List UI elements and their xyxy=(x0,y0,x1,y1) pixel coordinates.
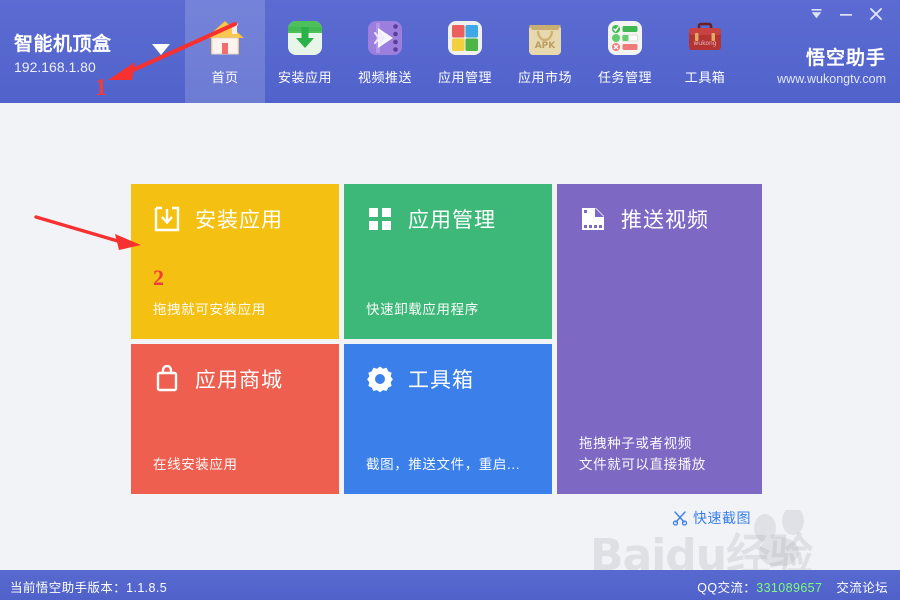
home-icon xyxy=(203,16,247,60)
nav-item-toolbox[interactable]: wukong 工具箱 xyxy=(665,0,745,103)
close-icon xyxy=(869,7,883,21)
nav-label: 任务管理 xyxy=(598,67,652,86)
brand-url: www.wukongtv.com xyxy=(777,71,886,88)
brand-block: 悟空助手 www.wukongtv.com xyxy=(777,48,886,88)
video-push-icon xyxy=(363,16,407,60)
tray-arrow-down-icon xyxy=(810,8,823,21)
tile-push-video[interactable]: 推送视频 拖拽种子或者视频 文件就可以直接播放 xyxy=(557,184,762,494)
nav-label: 首页 xyxy=(211,67,238,86)
main-navbar: 首页 安装应用 xyxy=(185,0,745,103)
tile-subtitle: 拖拽就可安装应用 xyxy=(153,299,266,320)
tile-title: 应用商城 xyxy=(195,364,283,394)
nav-item-app-market[interactable]: APK 应用市场 xyxy=(505,0,585,103)
download-app-icon xyxy=(283,16,327,60)
nav-item-task-manage[interactable]: 任务管理 xyxy=(585,0,665,103)
quick-screenshot-link[interactable]: 快速截图 xyxy=(672,508,751,528)
chevron-down-icon[interactable] xyxy=(152,44,170,55)
tile-app-manage[interactable]: 应用管理 快速卸载应用程序 xyxy=(344,184,552,339)
minus-icon xyxy=(839,8,853,21)
qq-label: QQ交流： xyxy=(697,581,756,595)
tile-app-store[interactable]: 应用商城 在线安装应用 xyxy=(131,344,339,494)
film-page-icon xyxy=(579,205,607,233)
task-manage-icon xyxy=(603,16,647,60)
device-selector[interactable]: 智能机顶盒 192.168.1.80 xyxy=(14,34,184,76)
status-right: QQ交流：331089657交流论坛 xyxy=(697,577,888,596)
quick-screenshot-label: 快速截图 xyxy=(693,508,751,528)
qq-number: 331089657 xyxy=(756,581,822,595)
nav-item-install-app[interactable]: 安装应用 xyxy=(265,0,345,103)
tile-title: 安装应用 xyxy=(195,204,283,234)
tile-install-app[interactable]: 安装应用 2 拖拽就可安装应用 xyxy=(131,184,339,339)
app-manage-icon xyxy=(443,16,487,60)
nav-label: 应用市场 xyxy=(518,67,572,86)
nav-label: 安装应用 xyxy=(278,67,332,86)
minimize-button[interactable] xyxy=(832,2,860,26)
tile-subtitle: 在线安装应用 xyxy=(153,454,238,475)
install-box-icon xyxy=(153,205,181,233)
svg-text:wukong: wukong xyxy=(693,40,716,47)
tile-header: 工具箱 xyxy=(366,364,474,394)
forum-link[interactable]: 交流论坛 xyxy=(836,581,888,595)
nav-label: 工具箱 xyxy=(685,67,726,86)
scissors-icon xyxy=(672,510,688,526)
apk-market-icon: APK xyxy=(523,16,567,60)
device-ip: 192.168.1.80 xyxy=(14,58,184,76)
minimize-to-tray-button[interactable] xyxy=(802,2,830,26)
window-controls xyxy=(802,2,890,26)
app-window: 智能机顶盒 192.168.1.80 首页 xyxy=(0,0,900,600)
shopping-bag-icon xyxy=(153,365,181,393)
gear-icon xyxy=(366,365,394,393)
tile-header: 应用管理 xyxy=(366,204,496,234)
tile-title: 推送视频 xyxy=(621,204,709,234)
tile-title: 应用管理 xyxy=(408,204,496,234)
tile-grid: 安装应用 2 拖拽就可安装应用 应用管理 快速卸载应用程序 xyxy=(131,184,762,494)
app-header: 智能机顶盒 192.168.1.80 首页 xyxy=(0,0,900,103)
toolbox-icon: wukong xyxy=(683,16,727,60)
tile-header: 安装应用 xyxy=(153,204,283,234)
nav-label: 视频推送 xyxy=(358,67,412,86)
tile-subtitle: 拖拽种子或者视频 文件就可以直接播放 xyxy=(579,433,706,475)
nav-item-home[interactable]: 首页 xyxy=(185,0,265,103)
nav-label: 应用管理 xyxy=(438,67,492,86)
tile-toolbox[interactable]: 工具箱 截图，推送文件，重启... xyxy=(344,344,552,494)
paw-icon xyxy=(747,510,867,566)
tile-header: 应用商城 xyxy=(153,364,283,394)
brand-name: 悟空助手 xyxy=(777,48,886,70)
svg-text:APK: APK xyxy=(535,41,557,51)
step-2-marker: 2 xyxy=(153,265,164,291)
tile-title: 工具箱 xyxy=(408,364,474,394)
tile-header: 推送视频 xyxy=(579,204,709,234)
close-button[interactable] xyxy=(862,2,890,26)
status-bar: 当前悟空助手版本：1.1.8.5 QQ交流：331089657交流论坛 xyxy=(0,570,900,600)
tile-subtitle: 快速卸载应用程序 xyxy=(366,299,479,320)
tile-subtitle: 截图，推送文件，重启... xyxy=(366,454,520,475)
grid-squares-icon xyxy=(366,205,394,233)
nav-item-app-manage[interactable]: 应用管理 xyxy=(425,0,505,103)
nav-item-video-push[interactable]: 视频推送 xyxy=(345,0,425,103)
version-text: 当前悟空助手版本：1.1.8.5 xyxy=(10,577,167,596)
